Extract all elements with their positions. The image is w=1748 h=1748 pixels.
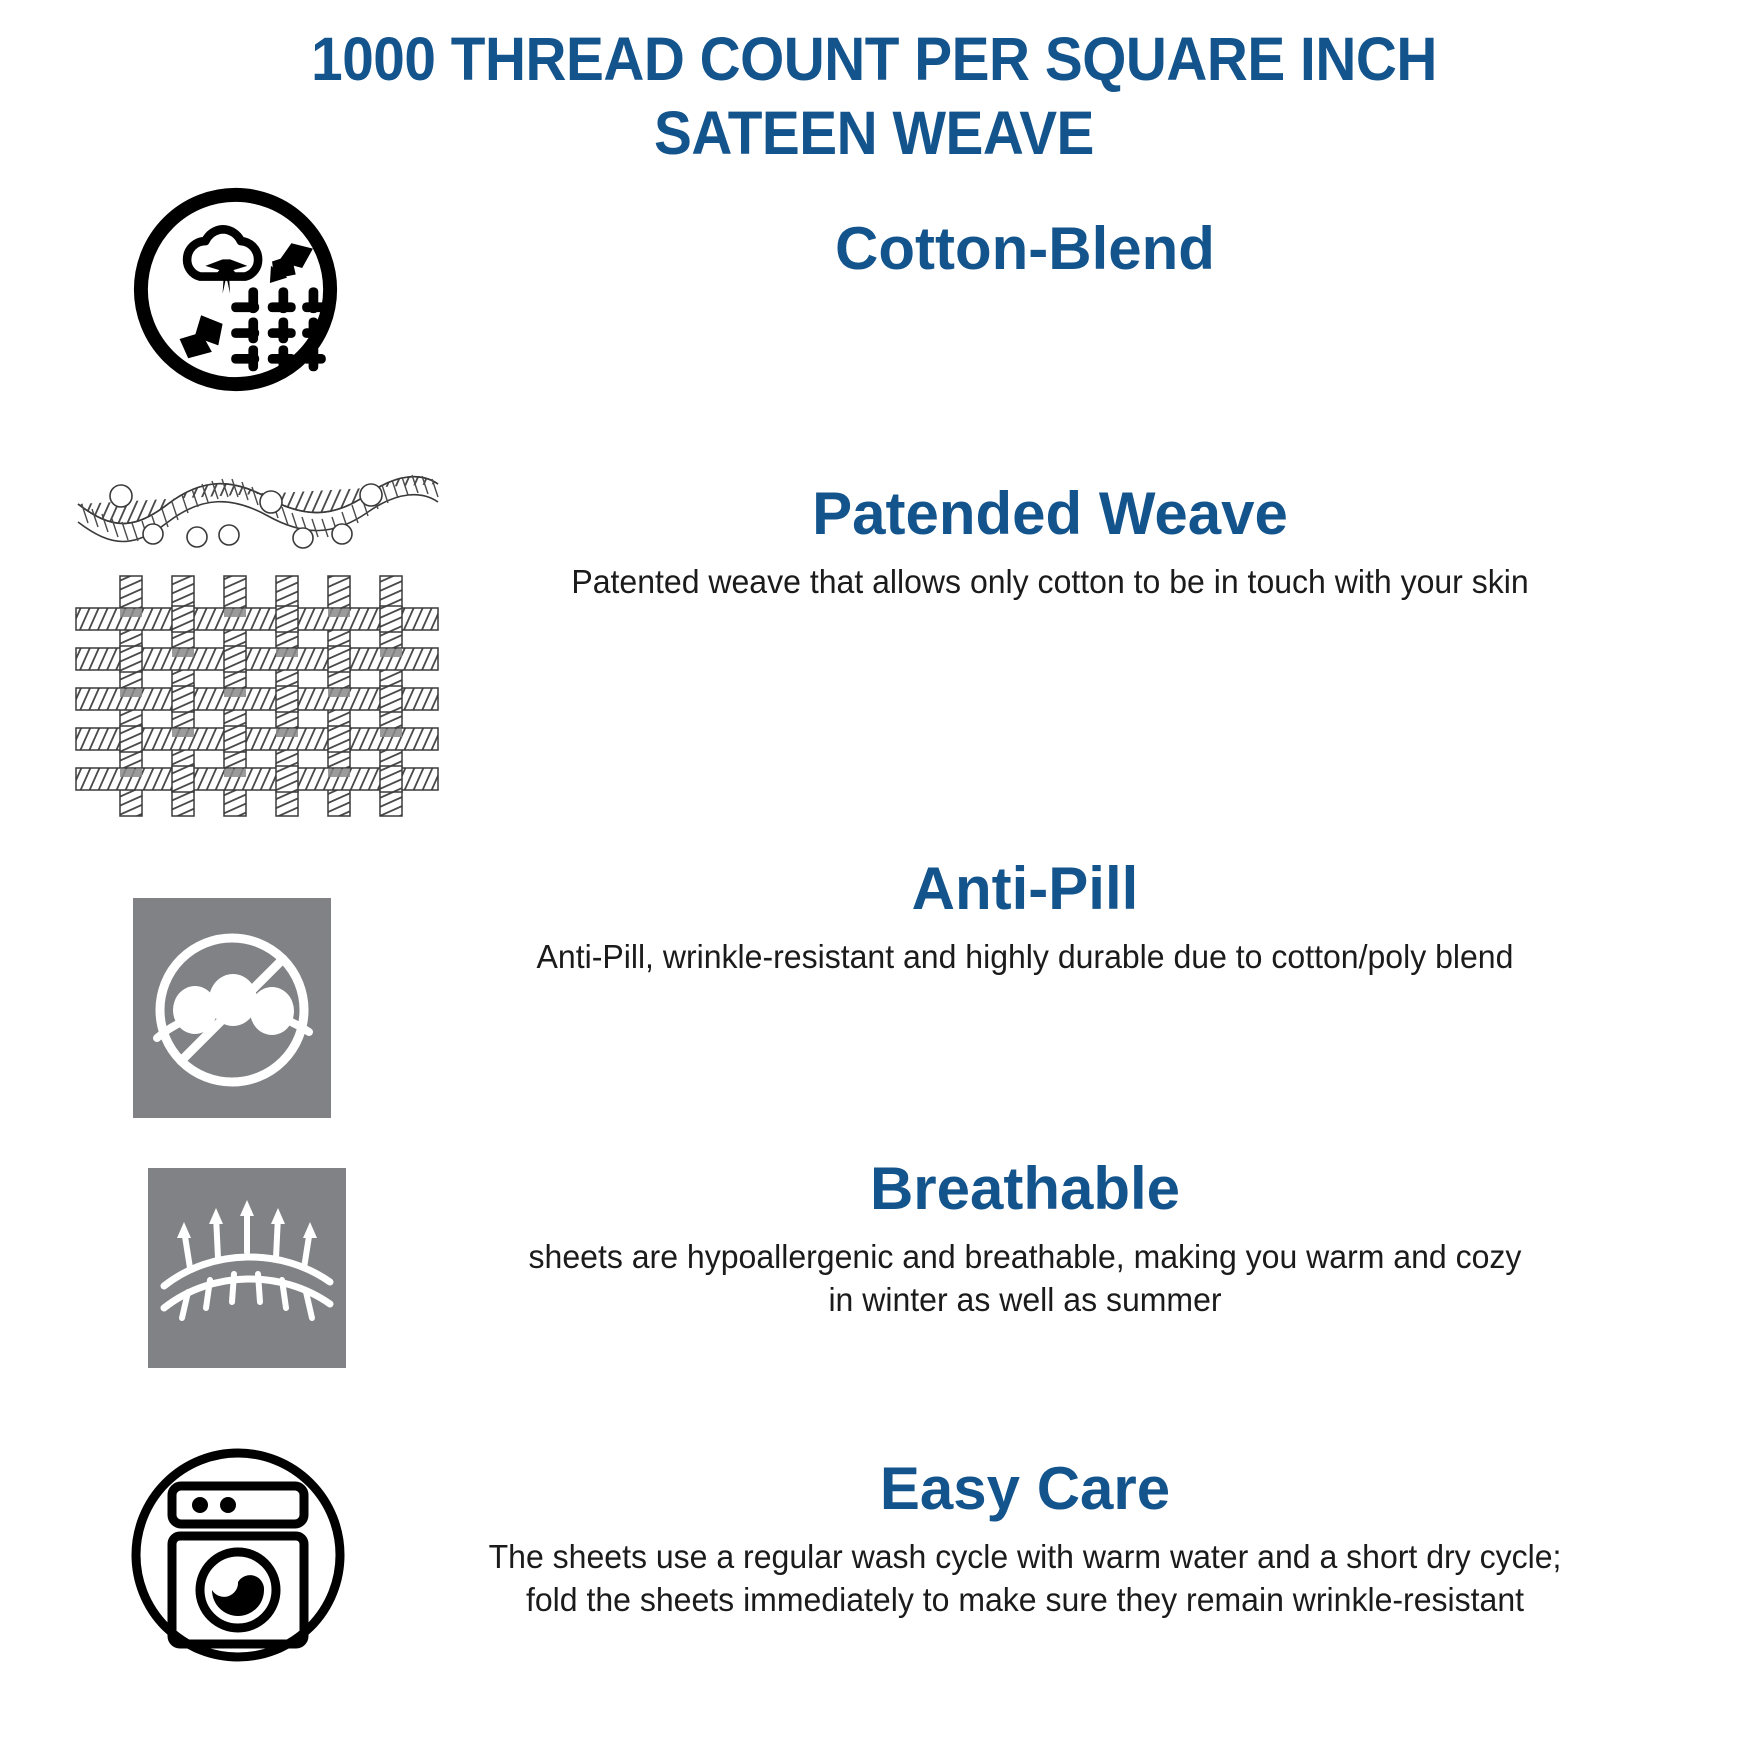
patended-weave-icon-cell [72, 468, 442, 818]
easy-care-text-cell: Easy Care The sheets use a regular wash … [370, 1455, 1680, 1621]
patended-weave-description: Patented weave that allows only cotton t… [439, 560, 1661, 603]
patended-weave-text-cell: Patended Weave Patented weave that allow… [420, 480, 1680, 603]
cotton-blend-circle-icon [128, 182, 343, 397]
easy-care-heading: Easy Care [370, 1455, 1680, 1523]
anti-pill-icon-cell [133, 898, 331, 1118]
breathable-airflow-icon [148, 1168, 346, 1368]
infographic-page: 1000 THREAD COUNT PER SQUARE INCH SATEEN… [0, 0, 1748, 1748]
easy-care-description-line-1: The sheets use a regular wash cycle with… [390, 1535, 1661, 1578]
breathable-description-line-1: sheets are hypoallergenic and breathable… [390, 1235, 1661, 1278]
breathable-description-line-2: in winter as well as summer [390, 1278, 1661, 1321]
breathable-heading: Breathable [370, 1155, 1680, 1223]
page-title-line-2: SATEEN WEAVE [61, 96, 1687, 170]
breathable-icon-cell [148, 1168, 346, 1368]
no-pilling-icon [133, 898, 331, 1118]
anti-pill-description: Anti-Pill, wrinkle-resistant and highly … [390, 935, 1661, 978]
easy-care-description-line-2: fold the sheets immediately to make sure… [390, 1578, 1661, 1621]
patended-weave-heading: Patended Weave [420, 480, 1680, 548]
woven-fabric-diagram-icon [72, 468, 442, 818]
page-title-line-1: 1000 THREAD COUNT PER SQUARE INCH [61, 22, 1687, 96]
easy-care-icon-cell [128, 1440, 348, 1670]
washing-machine-icon [128, 1440, 348, 1670]
cotton-blend-heading: Cotton-Blend [360, 215, 1690, 283]
breathable-text-cell: Breathable sheets are hypoallergenic and… [370, 1155, 1680, 1321]
page-title: 1000 THREAD COUNT PER SQUARE INCH SATEEN… [0, 22, 1748, 170]
anti-pill-heading: Anti-Pill [370, 855, 1680, 923]
cotton-blend-icon-cell [128, 182, 343, 397]
cotton-blend-text-cell: Cotton-Blend [360, 215, 1690, 283]
anti-pill-text-cell: Anti-Pill Anti-Pill, wrinkle-resistant a… [370, 855, 1680, 978]
